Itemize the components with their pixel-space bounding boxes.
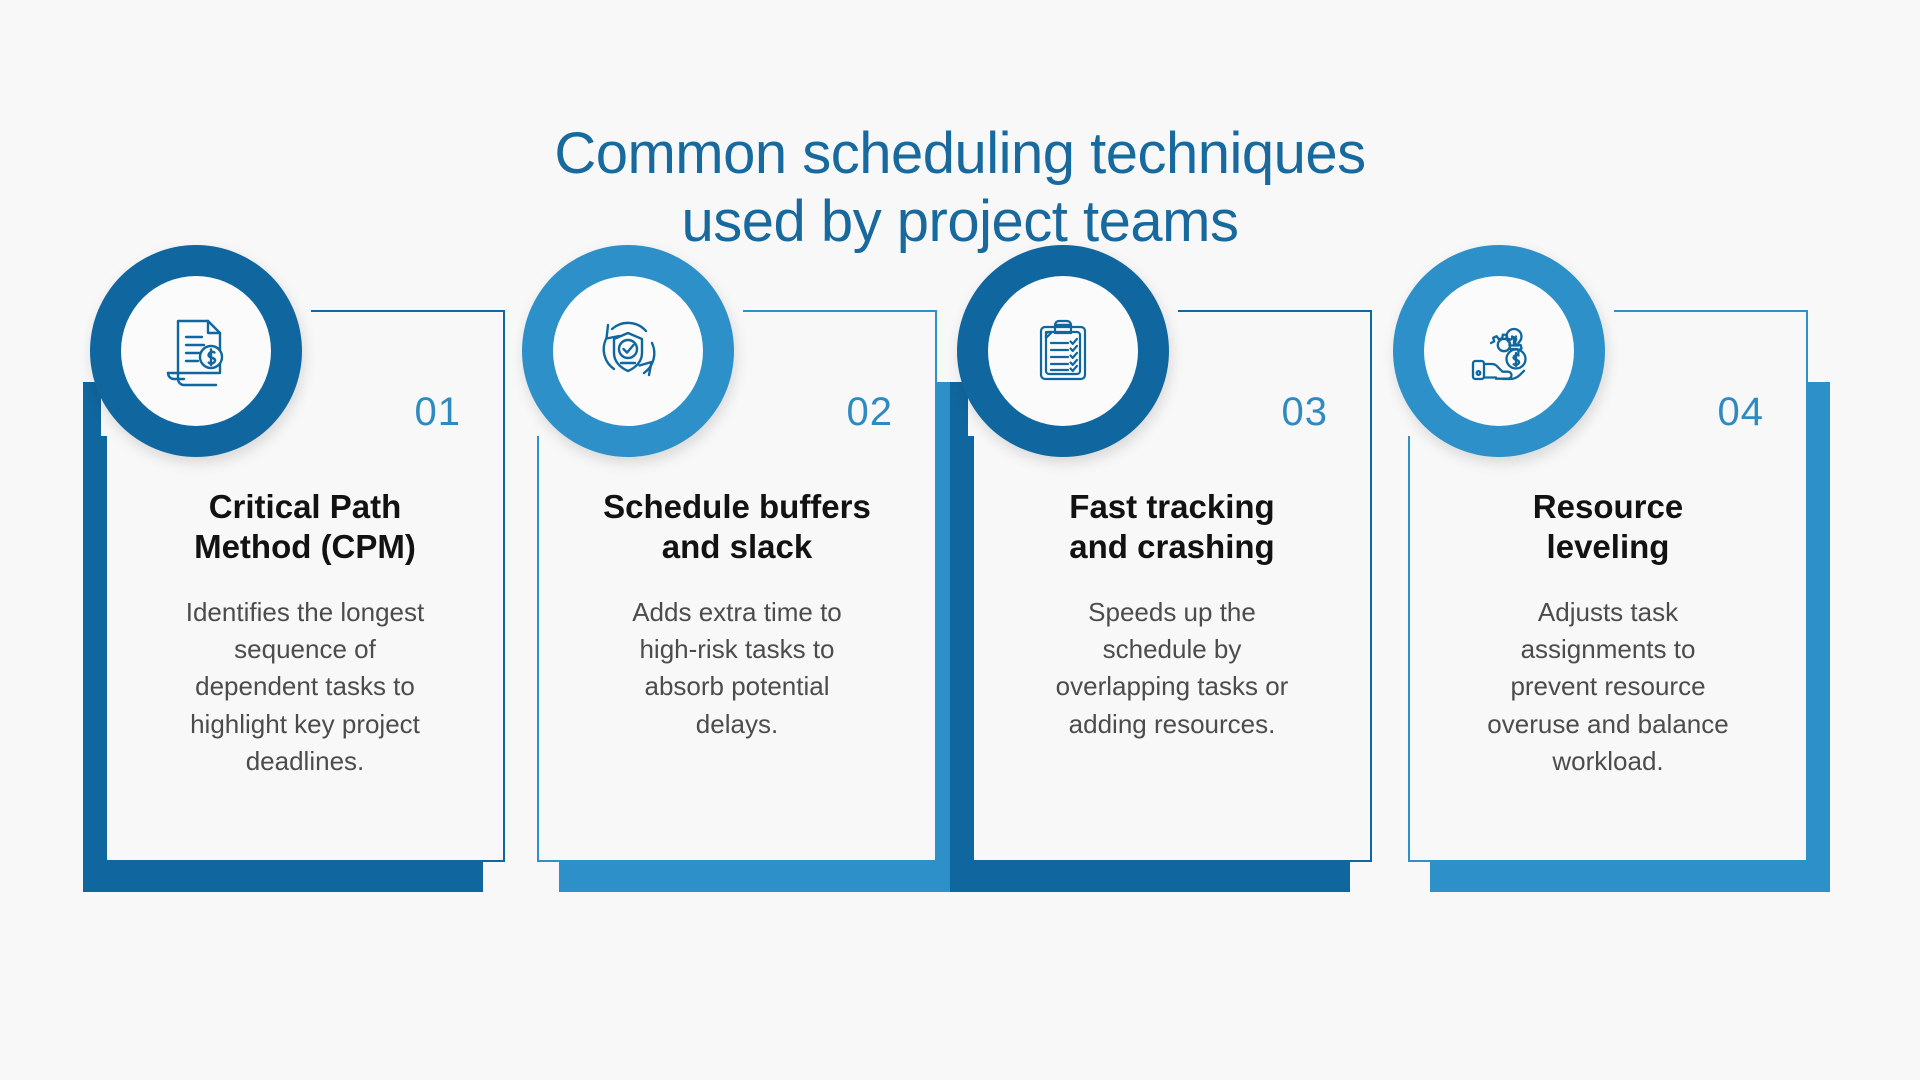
card-description: Adjusts task assignments to prevent reso… xyxy=(1436,594,1780,781)
card-icon-disc xyxy=(121,276,271,426)
card-icon-badge xyxy=(957,245,1169,457)
card-number: 04 xyxy=(1718,390,1765,435)
card-02[interactable]: 02 Schedule buffers and slack Adds extra… xyxy=(537,310,937,930)
clipboard-checklist-icon xyxy=(1021,309,1105,393)
card-description: Speeds up the schedule by overlapping ta… xyxy=(1000,594,1344,744)
card-body: Schedule buffers and slack Adds extra ti… xyxy=(565,487,909,743)
card-title: Resource leveling xyxy=(1436,487,1780,568)
card-title: Critical Path Method (CPM) xyxy=(133,487,477,568)
cards-row: 01 Critical Path Method (CPM) Identifies… xyxy=(0,0,1920,1080)
card-body: Fast tracking and crashing Speeds up the… xyxy=(1000,487,1344,743)
card-icon-disc xyxy=(988,276,1138,426)
card-body: Resource leveling Adjusts task assignmen… xyxy=(1436,487,1780,781)
infographic-canvas: Common scheduling techniques used by pro… xyxy=(0,0,1920,1080)
card-number: 01 xyxy=(415,390,462,435)
card-number: 03 xyxy=(1282,390,1329,435)
card-number: 02 xyxy=(847,390,894,435)
card-description: Adds extra time to high-risk tasks to ab… xyxy=(565,594,909,744)
card-03[interactable]: 03 Fast tracking and crashing Speeds up … xyxy=(972,310,1372,930)
card-title: Schedule buffers and slack xyxy=(565,487,909,568)
card-title: Fast tracking and crashing xyxy=(1000,487,1344,568)
card-icon-badge xyxy=(90,245,302,457)
card-icon-badge xyxy=(522,245,734,457)
card-icon-disc xyxy=(1424,276,1574,426)
card-01[interactable]: 01 Critical Path Method (CPM) Identifies… xyxy=(105,310,505,930)
card-icon-disc xyxy=(553,276,703,426)
card-04[interactable]: 04 Resource leveling Adjusts task assign… xyxy=(1408,310,1808,930)
document-dollar-icon xyxy=(154,309,238,393)
card-description: Identifies the longest sequence of depen… xyxy=(133,594,477,781)
card-icon-badge xyxy=(1393,245,1605,457)
hand-resources-icon xyxy=(1457,309,1541,393)
shield-check-refresh-icon xyxy=(586,309,670,393)
card-body: Critical Path Method (CPM) Identifies th… xyxy=(133,487,477,781)
